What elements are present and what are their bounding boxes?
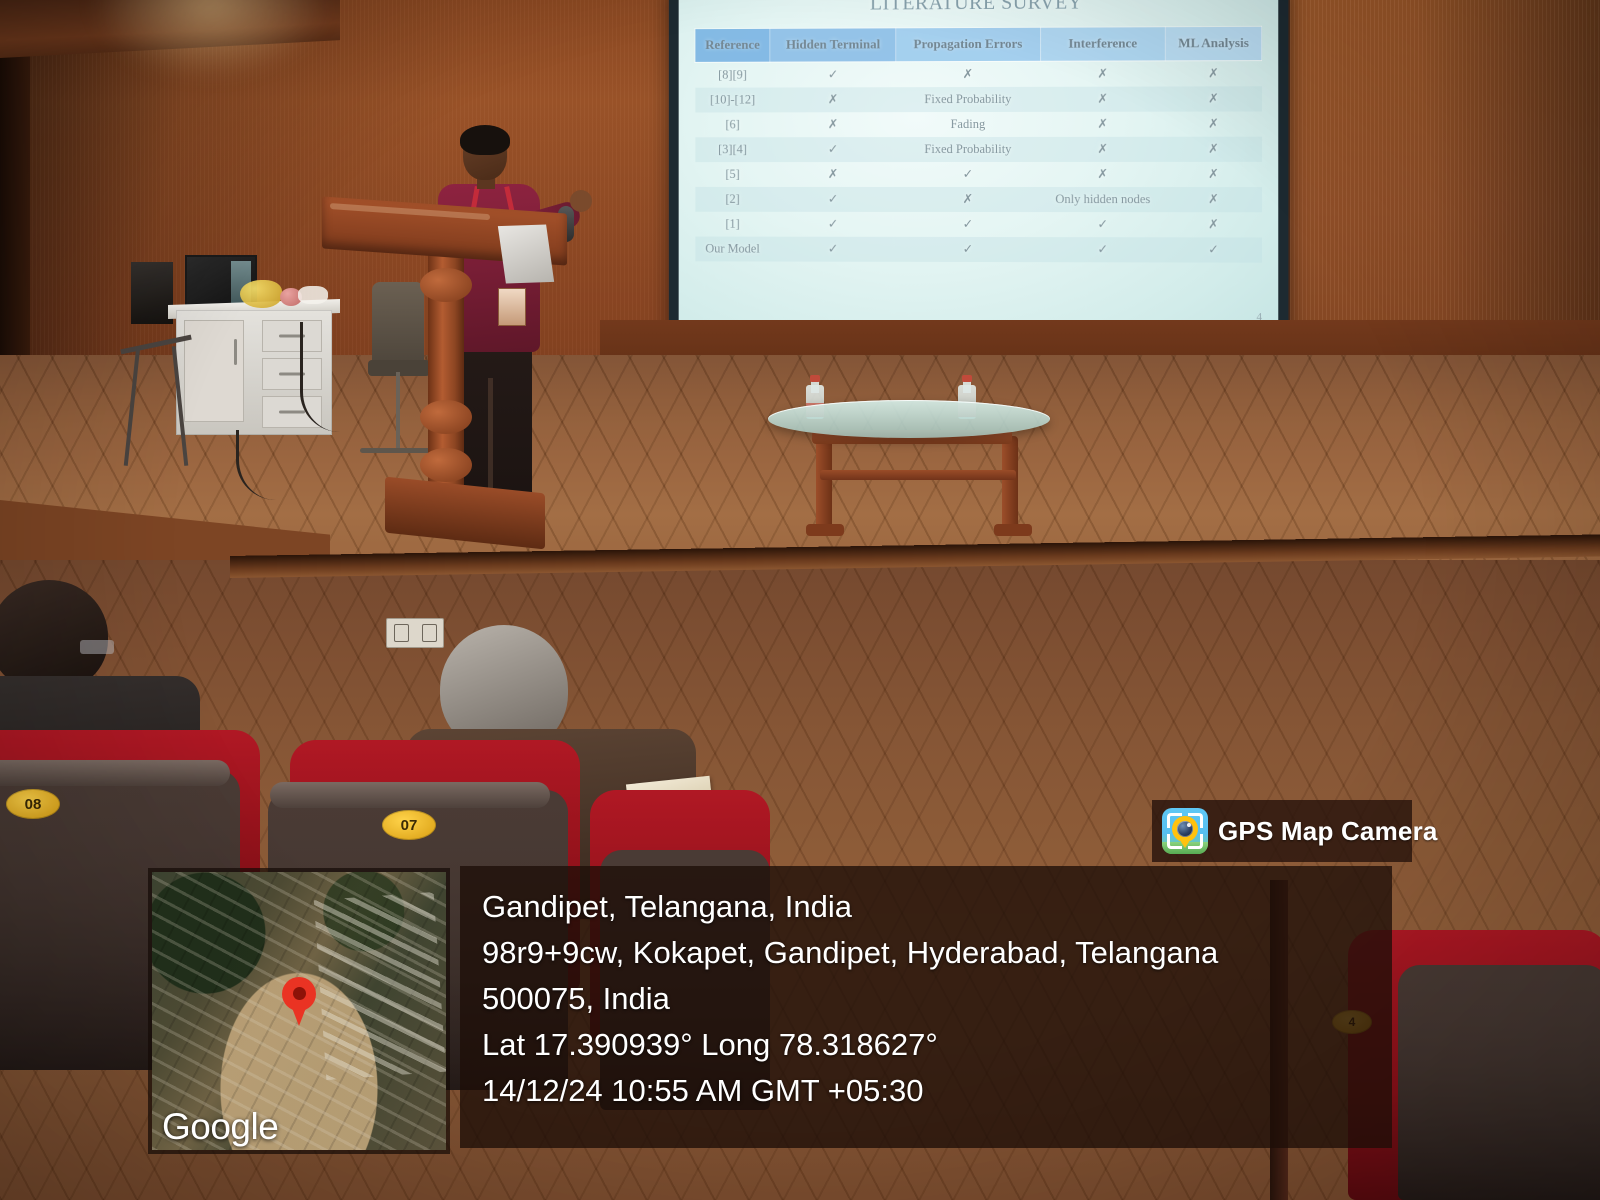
gps-map-camera-badge: GPS Map Camera <box>1152 800 1412 862</box>
seat-shell-right[interactable] <box>1398 965 1600 1200</box>
cell-propagation-errors: Fixed Probability <box>896 87 1040 112</box>
stage-chair-foot <box>360 448 436 453</box>
glass-table-top <box>768 400 1050 438</box>
table-stretcher <box>820 470 1016 480</box>
location-address-1: 98r9+9cw, Kokapet, Gandipet, Hyderabad, … <box>482 930 1392 976</box>
cell-interference: ✗ <box>1040 137 1166 162</box>
presenter-hand <box>570 190 592 212</box>
stage-chair-back <box>372 282 424 370</box>
slide-title: LITERATURE SURVEY <box>694 0 1262 16</box>
audience-eyeglasses <box>80 640 114 654</box>
table-foot-right <box>994 524 1032 536</box>
cell-interference: ✓ <box>1040 237 1166 262</box>
podium-knob <box>420 400 472 434</box>
cell-hidden-terminal: ✓ <box>770 212 896 237</box>
table-header-row: Reference Hidden Terminal Propagation Er… <box>695 26 1262 62</box>
cell-hidden-terminal: ✓ <box>770 187 896 212</box>
cell-hidden-terminal: ✗ <box>770 87 896 112</box>
cell-interference: ✗ <box>1040 61 1166 87</box>
cell-hidden-terminal: ✓ <box>770 237 896 262</box>
cell-interference: ✗ <box>1040 112 1166 137</box>
stand-leg <box>124 346 141 466</box>
gps-badge-label: GPS Map Camera <box>1218 816 1438 847</box>
column-header-reference: Reference <box>695 28 770 62</box>
presenter-id-badge <box>498 288 526 326</box>
table-row: [10]-[12]✗Fixed Probability✗✗ <box>695 86 1262 112</box>
location-info-lines: Gandipet, Telangana, India 98r9+9cw, Kok… <box>460 866 1392 1113</box>
icon-corner-bracket <box>1188 834 1203 849</box>
cell-propagation-errors: ✓ <box>896 162 1040 187</box>
bottle-cap <box>810 375 820 382</box>
location-timestamp: 14/12/24 10:55 AM GMT +05:30 <box>482 1068 1392 1114</box>
cell-reference: [3][4] <box>695 137 770 162</box>
bottle-cap <box>962 375 972 382</box>
column-header-hidden-terminal: Hidden Terminal <box>770 28 896 62</box>
computer-tower <box>131 262 173 324</box>
presenter-person <box>450 128 590 508</box>
cell-ml-analysis: ✓ <box>1166 237 1262 262</box>
cell-reference: [5] <box>695 162 770 187</box>
column-header-ml-analysis: ML Analysis <box>1166 26 1262 61</box>
socket-outlet <box>394 624 409 642</box>
cell-ml-analysis: ✗ <box>1166 111 1262 136</box>
table-row: [3][4]✓Fixed Probability✗✗ <box>695 137 1262 162</box>
seat-number-badge-left: 08 <box>6 789 60 819</box>
literature-survey-table: Reference Hidden Terminal Propagation Er… <box>694 26 1262 263</box>
cell-interference: Only hidden nodes <box>1040 187 1166 212</box>
cell-reference: [10]-[12] <box>695 87 770 112</box>
presentation-slide: LITERATURE SURVEY Reference Hidden Termi… <box>679 0 1279 359</box>
table-leg-left <box>816 436 832 532</box>
cell-reference: [2] <box>695 187 770 212</box>
cell-hidden-terminal: ✗ <box>770 112 896 137</box>
cell-propagation-errors: ✗ <box>896 61 1040 87</box>
table-foot-left <box>806 524 844 536</box>
seat-rail-middle <box>270 782 550 808</box>
icon-corner-bracket <box>1167 834 1182 849</box>
av-cable <box>300 322 353 432</box>
cell-ml-analysis: ✗ <box>1166 212 1262 237</box>
cell-ml-analysis: ✗ <box>1166 137 1262 162</box>
cell-propagation-errors: ✓ <box>896 237 1040 262</box>
table-row: [8][9]✓✗✗✗ <box>695 61 1262 88</box>
map-thumbnail[interactable]: Google <box>152 872 446 1150</box>
location-coordinates: Lat 17.390939° Long 78.318627° <box>482 1022 1392 1068</box>
white-item <box>298 286 328 304</box>
cell-reference: Our Model <box>695 236 770 261</box>
table-row: [5]✗✓✗✗ <box>695 162 1262 187</box>
cell-reference: [1] <box>695 212 770 237</box>
cell-propagation-errors: Fading <box>896 112 1040 137</box>
cell-hidden-terminal: ✓ <box>770 62 896 88</box>
podium-papers <box>498 224 554 283</box>
presenter-hair <box>460 125 510 155</box>
cell-ml-analysis: ✗ <box>1166 61 1262 87</box>
stand-bar <box>120 335 191 355</box>
stage-chair-leg <box>396 372 400 452</box>
cell-ml-analysis: ✗ <box>1166 86 1262 111</box>
projection-screen: LITERATURE SURVEY Reference Hidden Termi… <box>679 0 1279 359</box>
location-info-panel: Gandipet, Telangana, India 98r9+9cw, Kok… <box>460 866 1392 1148</box>
pin-center-dot <box>293 987 306 1000</box>
cell-propagation-errors: ✓ <box>896 212 1040 237</box>
google-watermark: Google <box>162 1106 278 1148</box>
photo-canvas: LITERATURE SURVEY Reference Hidden Termi… <box>0 0 1600 1200</box>
icon-camera-lens <box>1177 821 1193 837</box>
bottle-neck <box>811 381 819 393</box>
location-address-2: 500075, India <box>482 976 1392 1022</box>
cell-propagation-errors: ✗ <box>896 187 1040 212</box>
cell-hidden-terminal: ✓ <box>770 137 896 162</box>
map-pin-icon <box>282 977 316 1011</box>
column-header-interference: Interference <box>1040 27 1166 62</box>
gps-camera-pin-icon <box>1162 808 1208 854</box>
table-row: Our Model✓✓✓✓ <box>695 236 1262 262</box>
column-header-propagation-errors: Propagation Errors <box>896 27 1040 61</box>
cell-reference: [6] <box>695 112 770 137</box>
av-stand <box>116 326 202 466</box>
seat-number-badge-middle: 07 <box>382 810 436 840</box>
yellow-bag-item <box>240 280 282 308</box>
podium-knob <box>420 448 472 482</box>
bottle-neck <box>963 381 971 393</box>
seat-rail-left <box>0 760 230 786</box>
stand-leg <box>172 346 189 466</box>
map-building-blocks <box>314 892 446 1080</box>
cell-propagation-errors: Fixed Probability <box>896 137 1040 162</box>
cell-hidden-terminal: ✗ <box>770 162 896 187</box>
location-place: Gandipet, Telangana, India <box>482 884 1392 930</box>
table-leg-right <box>1002 436 1018 532</box>
cell-ml-analysis: ✗ <box>1166 162 1262 187</box>
floor-cable <box>236 430 329 500</box>
cell-interference: ✓ <box>1040 212 1166 237</box>
cell-interference: ✗ <box>1040 162 1166 187</box>
table-row: [2]✓✗Only hidden nodes✗ <box>695 187 1262 212</box>
table-row: [1]✓✓✓✗ <box>695 212 1262 238</box>
table-row: [6]✗Fading✗✗ <box>695 111 1262 137</box>
cell-reference: [8][9] <box>695 62 770 88</box>
cell-interference: ✗ <box>1040 86 1166 111</box>
cell-ml-analysis: ✗ <box>1166 187 1262 212</box>
podium-knob <box>420 268 472 302</box>
